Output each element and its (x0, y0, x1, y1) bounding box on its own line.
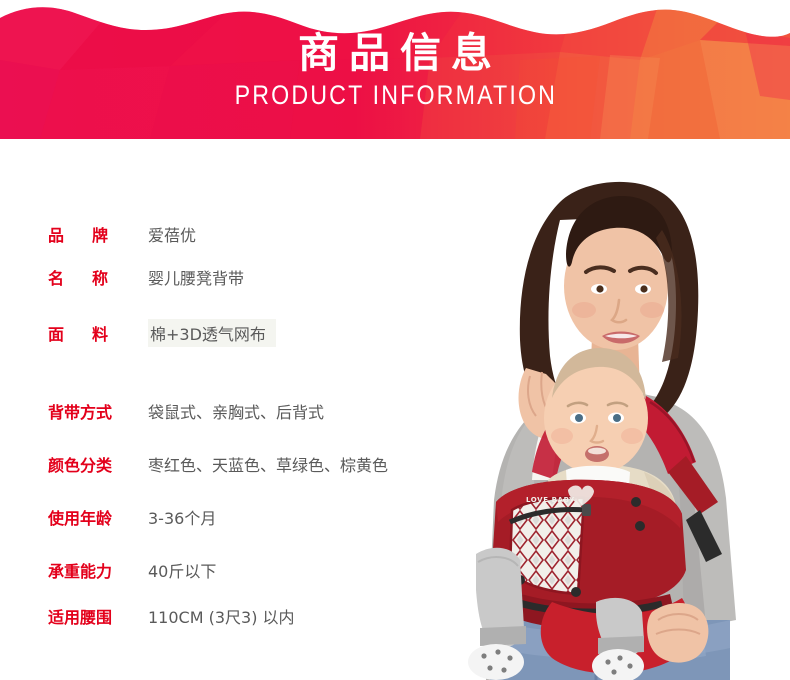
spec-value: 袋鼠式、亲胸式、后背式 (148, 399, 324, 423)
sock-dot (617, 655, 622, 660)
spec-row: 承重能力40斤以下 (48, 558, 216, 582)
cheek-blush-left (572, 302, 596, 318)
sock-dot (495, 649, 500, 654)
spec-row: 名称婴儿腰凳背带 (48, 265, 244, 289)
spec-value: 棉+3D透气网布 (148, 319, 276, 347)
spec-label: 背带方式 (48, 399, 148, 423)
baby-sock-left (468, 644, 524, 680)
spec-value: 40斤以下 (148, 558, 216, 582)
page-header-banner: 商品信息 PRODUCT INFORMATION (0, 0, 790, 139)
zipper-pull (582, 504, 591, 516)
sock-dot (611, 669, 616, 674)
spec-row: 适用腰围110CM (3尺3) 以内 (48, 604, 295, 628)
spec-value: 3-36个月 (148, 505, 216, 529)
sock-dot (481, 653, 486, 658)
carrier-snap-1 (631, 497, 641, 507)
sock-dot (605, 659, 610, 664)
sock-dot (507, 655, 512, 660)
baby-leg-left-cuff (480, 626, 526, 646)
sock-dot (627, 663, 632, 668)
spec-label: 品牌 (48, 222, 148, 246)
carrier-logo-text: LOVE BABY (526, 496, 575, 504)
spec-row: 颜色分类枣红色、天蓝色、草绿色、棕黄色 (48, 452, 388, 476)
spec-value: 婴儿腰凳背带 (148, 265, 244, 289)
cheek-blush-right (640, 302, 664, 318)
spec-label: 承重能力 (48, 558, 148, 582)
spec-label: 面料 (48, 321, 148, 345)
mother-pupil-right (640, 285, 647, 292)
spec-label: 使用年龄 (48, 505, 148, 529)
carrier-snap-4 (571, 587, 581, 597)
baby-pupil-right (613, 414, 621, 422)
spec-row: 背带方式袋鼠式、亲胸式、后背式 (48, 399, 324, 423)
baby-upper-lip (588, 448, 606, 455)
spec-label: 颜色分类 (48, 452, 148, 476)
spec-row: 品牌爱蓓优 (48, 222, 196, 246)
baby-cheek-left (551, 428, 573, 444)
baby-cheek-right (621, 428, 643, 444)
mother-pupil-left (596, 285, 603, 292)
spec-label: 名称 (48, 265, 148, 289)
product-photo: LOVE BABY (400, 150, 790, 680)
spec-row: 使用年龄3-36个月 (48, 505, 216, 529)
sock-dot (501, 667, 506, 672)
banner-background-graphic (0, 0, 790, 139)
product-photo-illustration: LOVE BABY (400, 150, 790, 680)
carrier-snap-2 (635, 521, 645, 531)
product-information-page: 商品信息 PRODUCT INFORMATION 品牌爱蓓优名称婴儿腰凳背带面料… (0, 0, 790, 680)
baby-pupil-left (575, 414, 583, 422)
spec-value: 枣红色、天蓝色、草绿色、棕黄色 (148, 452, 388, 476)
spec-row: 面料棉+3D透气网布 (48, 319, 276, 347)
spec-label: 适用腰围 (48, 604, 148, 628)
spec-value: 爱蓓优 (148, 222, 196, 246)
spec-value: 110CM (3尺3) 以内 (148, 604, 295, 628)
sock-dot (487, 665, 492, 670)
